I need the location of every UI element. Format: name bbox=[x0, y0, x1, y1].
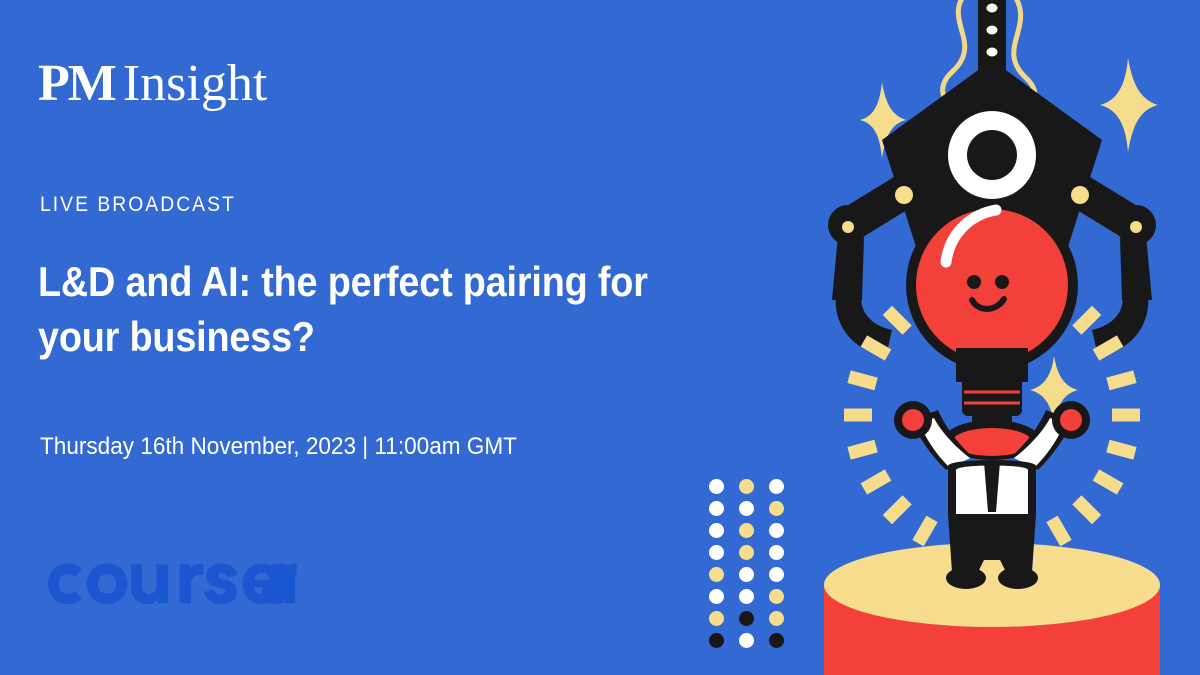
grid-dot bbox=[739, 545, 754, 560]
bulb-eye-left bbox=[967, 275, 981, 289]
live-broadcast-label: LIVE BROADCAST bbox=[40, 193, 236, 217]
coursera-logo bbox=[38, 548, 298, 604]
grid-dot bbox=[739, 589, 754, 604]
grid-dot bbox=[709, 523, 724, 538]
grid-dot bbox=[739, 479, 754, 494]
decorative-dot-grid bbox=[709, 479, 783, 651]
illustration-svg bbox=[780, 0, 1200, 675]
claw-rivet-left bbox=[895, 186, 913, 204]
coursera-wordmark-svg bbox=[38, 548, 298, 605]
page-title: L&D and AI: the perfect pairing for your… bbox=[38, 255, 686, 364]
grid-dot bbox=[709, 633, 724, 648]
podium bbox=[824, 543, 1160, 675]
grid-dot bbox=[709, 589, 724, 604]
grid-dot bbox=[709, 567, 724, 582]
grid-dot bbox=[709, 545, 724, 560]
claw-rivet-right bbox=[1071, 186, 1089, 204]
logo-pm-text: PM bbox=[38, 55, 115, 112]
grid-dot bbox=[709, 501, 724, 516]
webinar-promo-banner: PMInsight LIVE BROADCAST L&D and AI: the… bbox=[0, 0, 1200, 675]
event-datetime: Thursday 16th November, 2023 | 11:00am G… bbox=[40, 433, 517, 461]
sparkle-star-right bbox=[1100, 58, 1158, 152]
grid-dot bbox=[739, 523, 754, 538]
grid-dot bbox=[709, 479, 724, 494]
logo-insight-text: Insight bbox=[123, 55, 267, 112]
grid-dot bbox=[739, 501, 754, 516]
grid-dot bbox=[739, 611, 754, 626]
grid-dot bbox=[739, 633, 754, 648]
pm-insight-logo: PMInsight bbox=[38, 58, 267, 110]
bulb-eye-right bbox=[995, 275, 1009, 289]
grid-dot bbox=[709, 611, 724, 626]
grid-dot bbox=[739, 567, 754, 582]
hero-illustration bbox=[780, 0, 1200, 675]
